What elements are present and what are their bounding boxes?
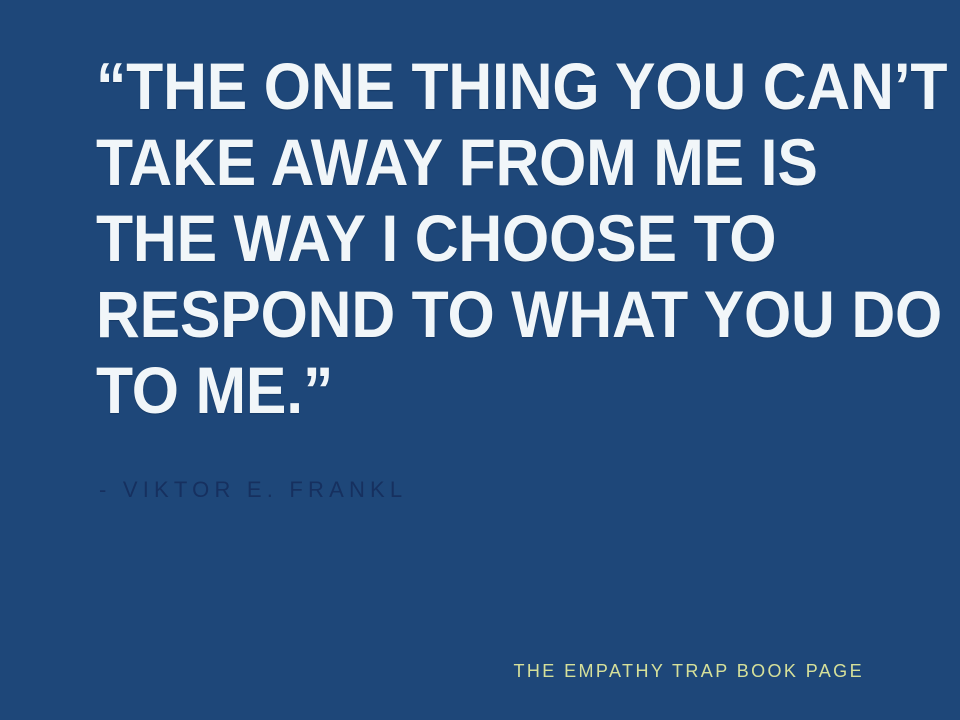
quote-line-5: TO ME.”: [96, 352, 832, 428]
quote-line-1: “THE ONE THING YOU CAN’T: [96, 48, 832, 124]
quote-attribution: - VIKTOR E. FRANKL: [99, 477, 407, 503]
quote-line-3: THE WAY I CHOOSE TO: [96, 200, 832, 276]
footer-credit: THE EMPATHY TRAP BOOK PAGE: [0, 661, 864, 682]
quote-line-2: TAKE AWAY FROM ME IS: [96, 124, 832, 200]
quote-line-4: RESPOND TO WHAT YOU DO: [96, 276, 832, 352]
quote-block: “THE ONE THING YOU CAN’T TAKE AWAY FROM …: [96, 48, 896, 428]
quote-slide: “THE ONE THING YOU CAN’T TAKE AWAY FROM …: [0, 0, 960, 720]
